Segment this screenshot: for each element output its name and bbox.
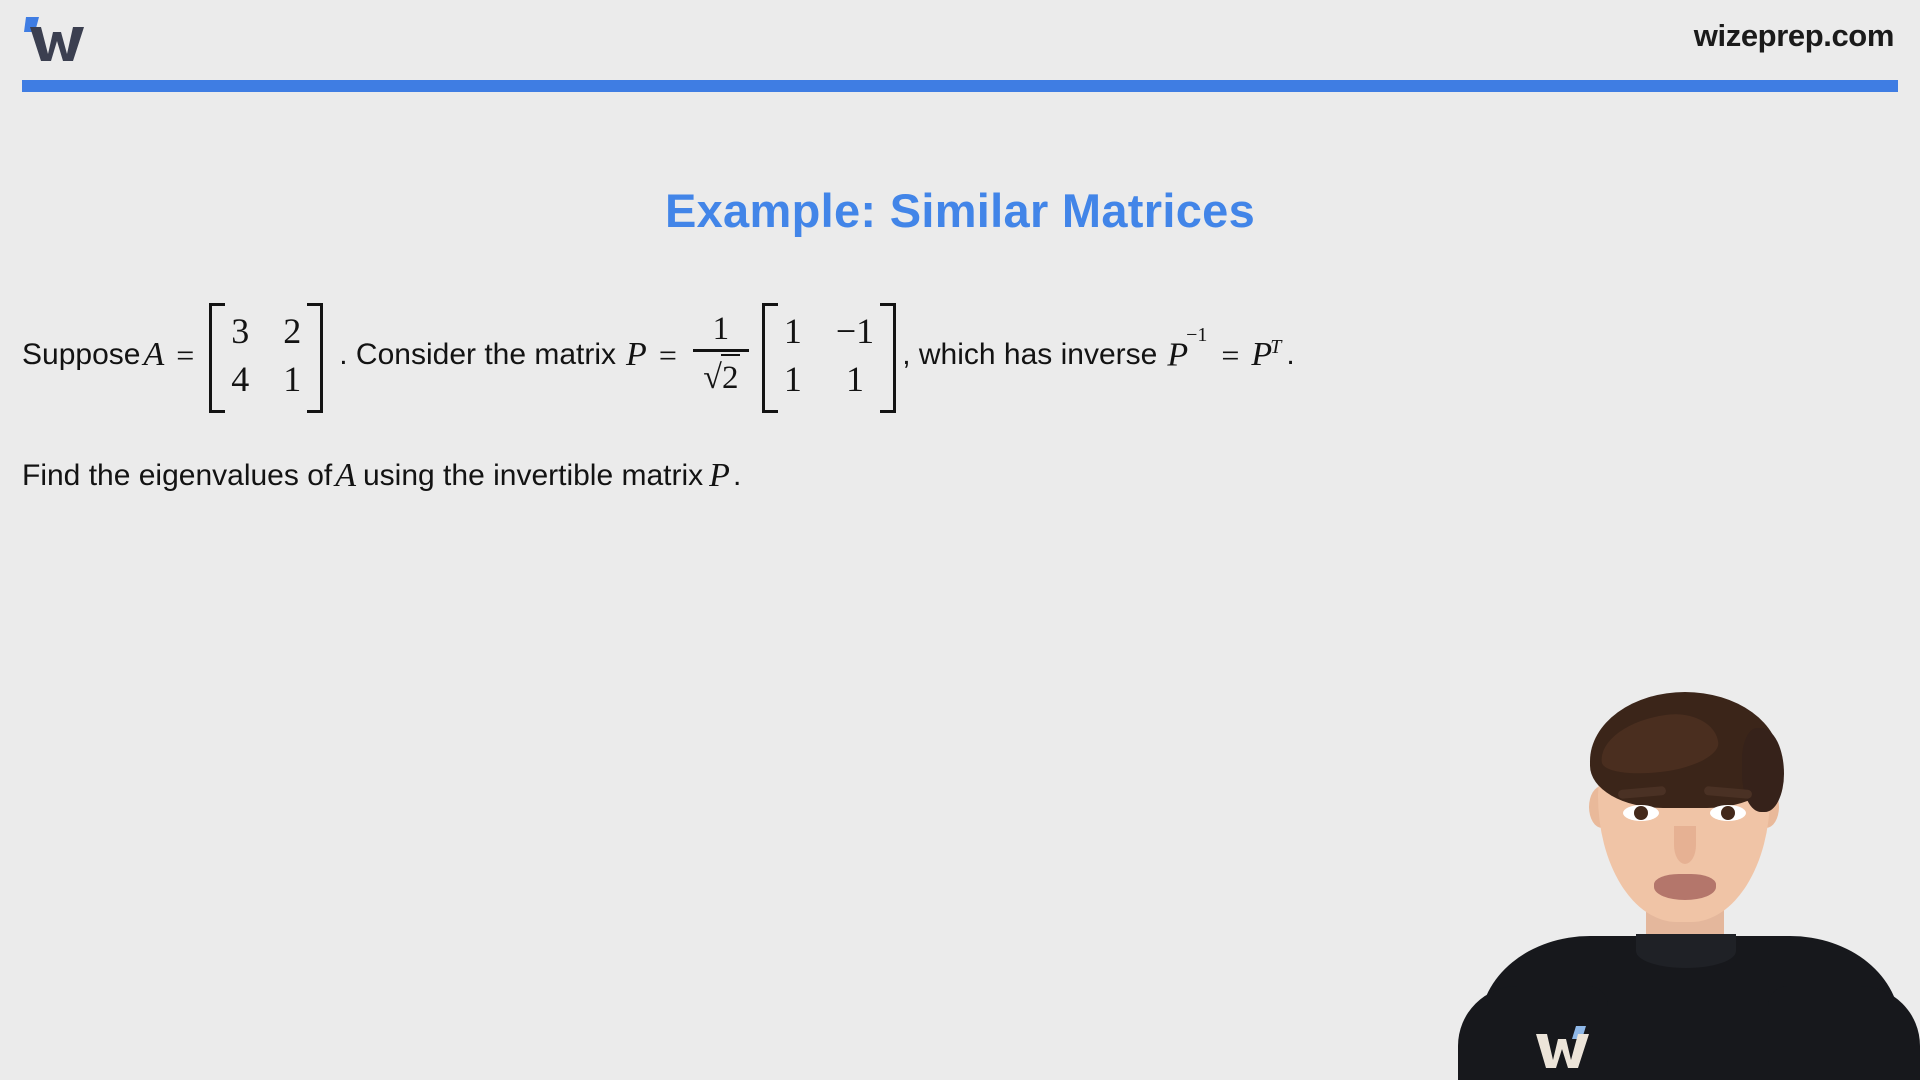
shirt-wizeprep-w-logo-icon bbox=[1532, 1022, 1594, 1070]
matrix-p: 1 −1 1 1 bbox=[762, 303, 896, 407]
presenter-nose bbox=[1674, 826, 1696, 864]
presenter-mouth bbox=[1654, 874, 1716, 900]
presenter-hair-side bbox=[1742, 728, 1784, 812]
presenter-collar bbox=[1636, 934, 1736, 968]
text-suppose: Suppose bbox=[22, 338, 140, 372]
matrix-a: 3 2 4 1 bbox=[209, 303, 323, 407]
matrix-p-cell-0-1: −1 bbox=[836, 308, 874, 354]
square-root-icon: √ 2 bbox=[701, 354, 740, 398]
presenter-pupil-left bbox=[1634, 806, 1648, 820]
fraction-numerator: 1 bbox=[713, 310, 730, 349]
period-line-2: . bbox=[733, 459, 741, 493]
variable-a: A bbox=[140, 336, 167, 374]
matrix-a-cell-1-1: 1 bbox=[283, 356, 301, 402]
variable-p-line2: P bbox=[703, 457, 733, 495]
wizeprep-w-logo-icon[interactable] bbox=[22, 14, 88, 64]
problem-statement-line-1: Suppose A = 3 2 4 1 . Consider the matri… bbox=[22, 303, 1295, 407]
equals-sign-1: = bbox=[167, 337, 203, 374]
text-which-has-inverse: , which has inverse bbox=[902, 338, 1157, 372]
variable-p-inverse: P−1 bbox=[1157, 336, 1212, 374]
fraction-one-over-sqrt-two: 1 √ 2 bbox=[693, 310, 749, 398]
presenter-shoulder-right bbox=[1768, 986, 1920, 1080]
matrix-p-cell-1-0: 1 bbox=[784, 356, 802, 402]
period-line-1: . bbox=[1286, 338, 1294, 372]
text-find-eigenvalues: Find the eigenvalues of bbox=[22, 459, 332, 493]
presenter-eye-left bbox=[1623, 805, 1659, 821]
variable-p-transpose: PT bbox=[1248, 336, 1286, 374]
brand-name: wizeprep.com bbox=[1694, 14, 1894, 58]
radical-sign: √ bbox=[703, 358, 722, 398]
matrix-p-cell-0-0: 1 bbox=[784, 308, 802, 354]
page-header: wizeprep.com bbox=[0, 0, 1920, 92]
equals-sign-3: = bbox=[1212, 337, 1248, 374]
matrix-a-cell-1-0: 4 bbox=[231, 356, 249, 402]
header-divider-rule bbox=[22, 80, 1898, 92]
presenter-pupil-right bbox=[1721, 806, 1735, 820]
variable-p-transpose-exponent: T bbox=[1270, 336, 1281, 358]
slide-title: Example: Similar Matrices bbox=[0, 183, 1920, 238]
variable-p: P bbox=[616, 336, 650, 374]
variable-p-inverse-base: P bbox=[1167, 336, 1188, 373]
variable-p-inverse-exponent: −1 bbox=[1186, 324, 1207, 346]
presenter-video-stage bbox=[1450, 650, 1920, 1080]
fraction-denominator: √ 2 bbox=[701, 352, 740, 398]
variable-a-line2: A bbox=[332, 457, 359, 495]
matrix-p-cell-1-1: 1 bbox=[846, 356, 864, 402]
radicand-value: 2 bbox=[721, 354, 741, 398]
text-using-invertible-matrix: using the invertible matrix bbox=[359, 459, 703, 493]
matrix-a-cell-0-1: 2 bbox=[283, 308, 301, 354]
presenter-video-overlay[interactable] bbox=[1450, 650, 1920, 1080]
matrix-a-cell-0-0: 3 bbox=[231, 308, 249, 354]
equals-sign-2: = bbox=[650, 337, 686, 374]
presenter-eye-right bbox=[1710, 805, 1746, 821]
text-consider-matrix: . Consider the matrix bbox=[329, 338, 616, 372]
problem-statement-line-2: Find the eigenvalues of A using the inve… bbox=[22, 457, 741, 495]
